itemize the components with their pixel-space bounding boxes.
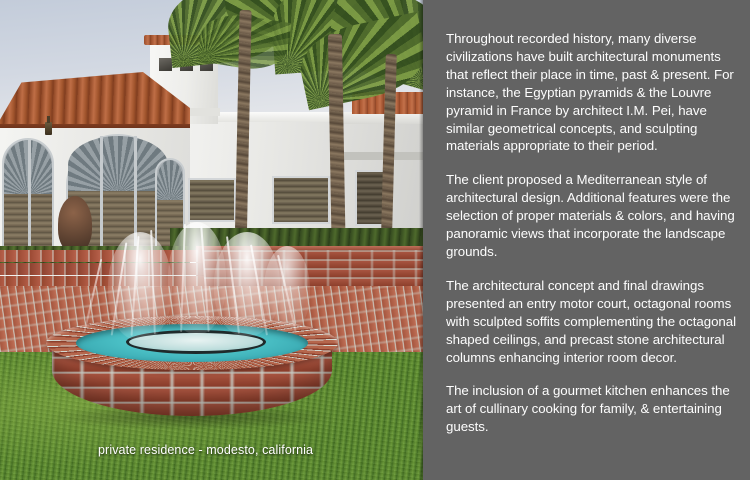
page-root: private residence - modesto, california … <box>0 0 750 480</box>
paragraph-3: The architectural concept and final draw… <box>446 277 738 367</box>
window-mullion <box>100 136 103 262</box>
description-panel: Throughout recorded history, many divers… <box>423 0 750 480</box>
window-flat-1 <box>188 178 236 222</box>
wall-lantern <box>45 122 52 135</box>
photo-caption: private residence - modesto, california <box>98 443 313 457</box>
window-fan-transom <box>157 160 183 202</box>
paragraph-4: The inclusion of a gourmet kitchen enhan… <box>446 382 738 436</box>
tower-opening-1 <box>159 58 172 71</box>
ornamental-tree <box>58 196 92 252</box>
window-fan-transom <box>68 136 168 194</box>
window-flat-2 <box>272 176 330 224</box>
window-mullion <box>28 140 31 262</box>
window-flat-3 <box>355 170 385 226</box>
paragraph-1: Throughout recorded history, many divers… <box>446 30 738 155</box>
paragraph-2: The client proposed a Mediterranean styl… <box>446 171 738 261</box>
residence-photo: private residence - modesto, california <box>0 0 423 480</box>
